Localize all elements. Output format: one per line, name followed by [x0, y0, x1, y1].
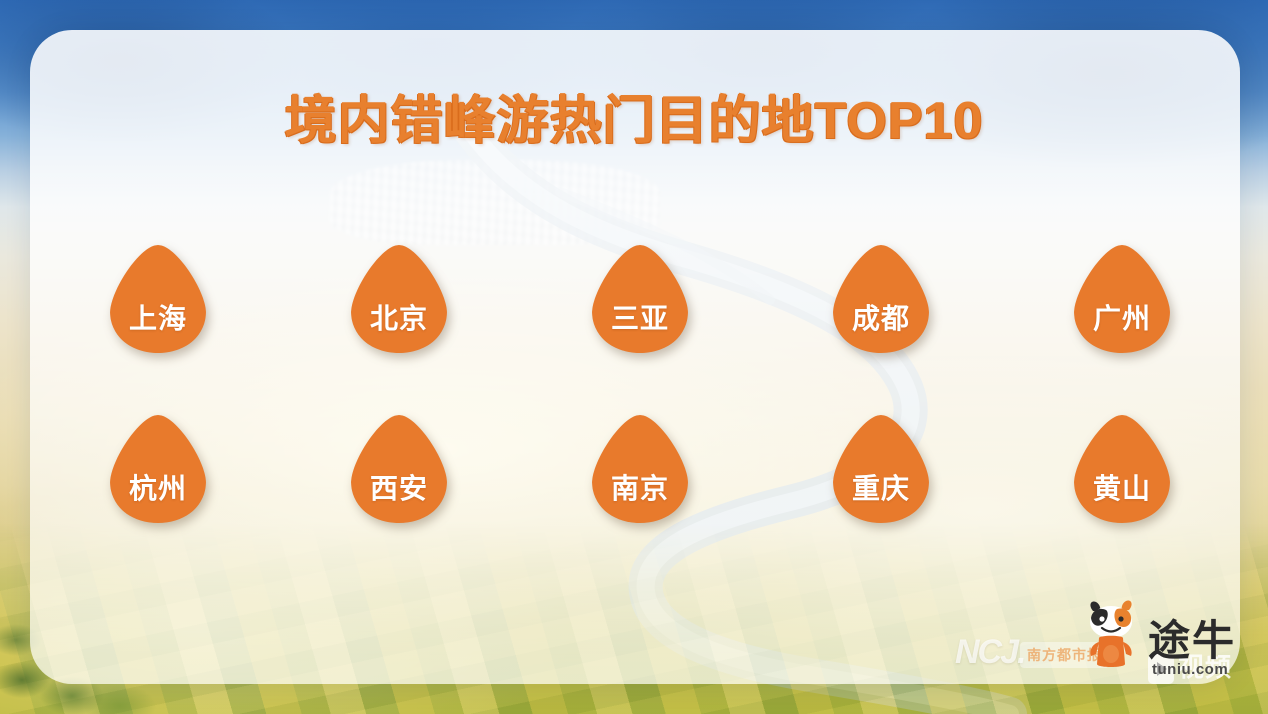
- destination-label: 南京: [611, 475, 669, 503]
- badge-shape-icon: [351, 415, 447, 523]
- destination-row-2: 杭州 西安 南京 重庆 黄山: [110, 415, 1170, 523]
- destination-badge-huangshan[interactable]: 黄山: [1074, 415, 1170, 523]
- destination-label: 成都: [852, 305, 910, 333]
- destination-label: 三亚: [611, 305, 669, 333]
- destination-grid: 上海 北京 三亚 成都 广州 杭州: [110, 245, 1170, 523]
- destination-badge-chengdu[interactable]: 成都: [833, 245, 929, 353]
- badge-shape-icon: [592, 245, 688, 353]
- destination-badge-shanghai[interactable]: 上海: [110, 245, 206, 353]
- destination-label: 杭州: [129, 475, 187, 503]
- destination-label: 西安: [370, 475, 428, 503]
- destination-label: 广州: [1093, 305, 1151, 333]
- badge-shape-icon: [1074, 245, 1170, 353]
- destination-badge-guangzhou[interactable]: 广州: [1074, 245, 1170, 353]
- badge-shape-icon: [833, 245, 929, 353]
- page-title: 境内错峰游热门目的地TOP10: [0, 78, 1268, 153]
- destination-label: 北京: [370, 305, 428, 333]
- destination-badge-sanya[interactable]: 三亚: [592, 245, 688, 353]
- destination-badge-chongqing[interactable]: 重庆: [833, 415, 929, 523]
- badge-shape-icon: [110, 415, 206, 523]
- badge-shape-icon: [833, 415, 929, 523]
- destination-row-1: 上海 北京 三亚 成都 广州: [110, 245, 1170, 353]
- poster-root: 境内错峰游热门目的地TOP10 上海 北京 三亚 成都 广州: [0, 0, 1268, 714]
- destination-label: 重庆: [852, 475, 910, 503]
- watermark-ncj-logo: NCJ.: [955, 633, 1024, 672]
- destination-badge-nanjing[interactable]: 南京: [592, 415, 688, 523]
- destination-badge-xian[interactable]: 西安: [351, 415, 447, 523]
- destination-badge-beijing[interactable]: 北京: [351, 245, 447, 353]
- cow-mascot-icon: [1082, 598, 1140, 670]
- badge-shape-icon: [1074, 415, 1170, 523]
- destination-label: 黄山: [1093, 475, 1151, 503]
- brand-url: tuniu.com: [1152, 661, 1228, 678]
- badge-shape-icon: [110, 245, 206, 353]
- destination-label: 上海: [129, 305, 187, 333]
- badge-shape-icon: [351, 245, 447, 353]
- brand-wordmark: 途牛: [1148, 620, 1236, 662]
- destination-badge-hangzhou[interactable]: 杭州: [110, 415, 206, 523]
- badge-shape-icon: [592, 415, 688, 523]
